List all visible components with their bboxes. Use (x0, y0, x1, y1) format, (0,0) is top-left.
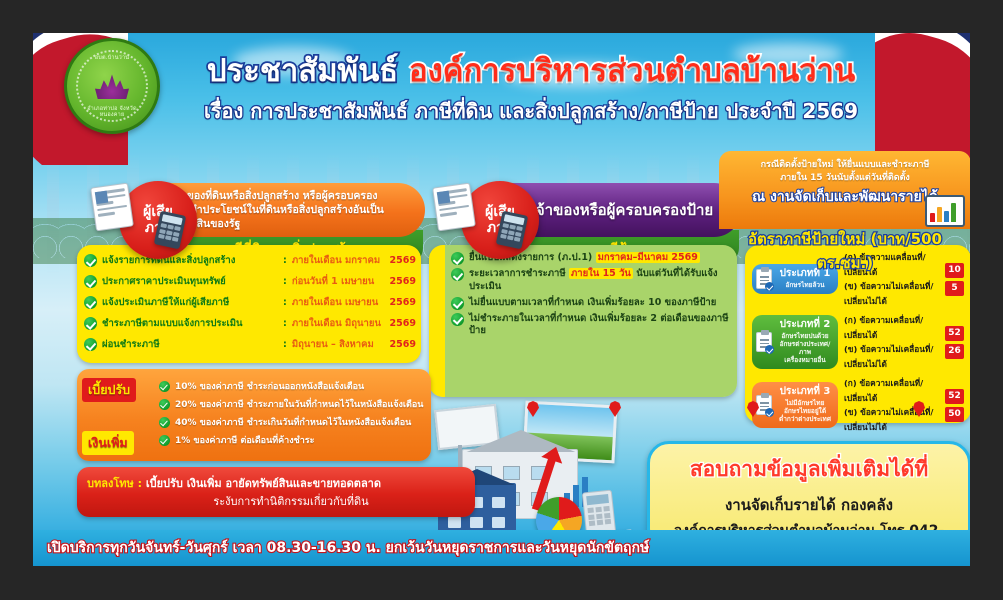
rate-line-text: (ก) ข้อความเคลื่อนที่/เปลี่ยนได้ (844, 313, 939, 342)
table-row: ประกาศราคาประเมินทุนทรัพย์ : ก่อนวันที่ … (77, 271, 421, 292)
schedule-year: 2569 (387, 255, 421, 266)
check-icon (159, 417, 170, 428)
list-item: ระยะเวลาการชำระภาษี ภายใน 15 วัน นับแต่ว… (451, 268, 729, 294)
rate-line-text: (ข) ข้อความไม่เคลื่อนที่/เปลี่ยนไม่ได้ (844, 405, 939, 434)
fine-tag-label: เบี้ยปรับ (82, 378, 136, 402)
criminal-line1: เบี้ยปรับ เงินเพิ่ม อายัดทรัพย์สินและขาย… (146, 477, 381, 490)
new-sign-notice-box: กรณีติดตั้งป้ายใหม่ ให้ยื่นแบบและชำระภาษ… (719, 151, 970, 229)
sign-type-name: ประเภทที่ 2 (777, 319, 833, 332)
tax-document-icon (90, 183, 134, 232)
page-subtitle: เรื่อง การประชาสัมพันธ์ ภาษีที่ดิน และสิ… (151, 95, 911, 127)
tax-document-icon (432, 183, 476, 232)
contact-line-1: งานจัดเก็บรายได้ กองคลัง (650, 493, 968, 517)
emblem-bottom-text: อำเภอท่าบ่อ จังหวัดหนองคาย (78, 106, 146, 118)
page-title: ประชาสัมพันธ์ องค์การบริหารส่วนตำบลบ้านว… (151, 55, 911, 88)
table-row: แจ้งประเมินภาษีให้แก่ผู้เสียภาษี : ภายใน… (77, 292, 421, 313)
office-hours-text: เปิดบริการทุกวันจันทร์-วันศุกร์ เวลา 08.… (47, 537, 649, 559)
land-tax-schedule-panel: แจ้งรายการที่ดินและสิ่งปลูกสร้าง : ภายใน… (77, 245, 421, 363)
list-item: ไม่ยื่นแบบตามเวลาที่กำหนด เงินเพิ่มร้อยล… (451, 297, 729, 310)
bar-chart-monitor-icon (925, 195, 965, 227)
schedule-colon: : (283, 318, 287, 329)
penalty-box: เบี้ยปรับ เงินเพิ่ม 10% ของค่าภาษี ชำระก… (77, 369, 431, 461)
sign-type-3-chip: ประเภทที่ 3 ไม่มีอักษรไทย อักษรไทยอยู่ใต… (752, 382, 838, 428)
fine-text: 20% ของค่าภาษี ชำระภายในวันที่กำหนดไว้ใน… (175, 397, 423, 411)
table-row: แจ้งรายการที่ดินและสิ่งปลูกสร้าง : ภายใน… (77, 250, 421, 271)
sign-rule-highlight: มกราคม–มีนาคม 2569 (596, 252, 700, 263)
land-desc-line2: หรือทำประโยชน์ในที่ดินหรือสิ่งปลูกสร้างอ… (171, 203, 384, 217)
schedule-colon: : (283, 255, 287, 266)
schedule-year: 2569 (387, 318, 421, 329)
table-row: ประเภทที่ 3 ไม่มีอักษรไทย อักษรไทยอยู่ใต… (745, 371, 970, 434)
check-icon (84, 275, 97, 288)
check-icon (159, 381, 170, 392)
check-icon (451, 252, 464, 265)
surcharge-tag-label: เงินเพิ่ม (82, 431, 134, 455)
surcharge-text: 1% ของค่าภาษี ต่อเดือนที่ค้างชำระ (175, 433, 314, 447)
schedule-label: แจ้งรายการที่ดินและสิ่งปลูกสร้าง (102, 253, 278, 268)
title-part-1: ประชาสัมพันธ์ (207, 53, 398, 89)
sign-type-sub: ไม่มีอักษรไทย อักษรไทยอยู่ใต้ ต่ำกว่าต่า… (777, 399, 833, 423)
fine-text: 10% ของค่าภาษี ชำระก่อนออกหนังสือแจ้งเตื… (175, 379, 364, 393)
schedule-colon: : (283, 276, 287, 287)
rate-value: 26 (945, 344, 964, 359)
schedule-when: ภายในเดือน เมษายน (292, 295, 382, 310)
sign-pill-label: เจ้าของหรือผู้ครอบครองป้าย (531, 198, 713, 222)
rate-value: 5 (945, 281, 964, 296)
schedule-label: ชำระภาษีตามแบบแจ้งการประเมิน (102, 316, 278, 331)
sign-type-sub: อักษรไทยปนด้วย อักษรต่างประเทศ/ภาพ เครื่… (777, 332, 833, 365)
schedule-when: ก่อนวันที่ 1 เมษายน (292, 274, 382, 289)
sign-rule-pre: ไม่ชำระภายในเวลาที่กำหนด เงินเพิ่มร้อยละ… (469, 313, 729, 339)
schedule-year: 2569 (387, 339, 421, 350)
table-row: ประเภทที่ 2 อักษรไทยปนด้วย อักษรต่างประเ… (745, 308, 970, 371)
rate-table-title: อัตราภาษีป้ายใหม่ (บาท/500 ตร.ซม.) (719, 227, 970, 255)
schedule-when: ภายในเดือน มิถุนายน (292, 316, 382, 331)
check-icon (159, 399, 170, 410)
sign-type-2-chip: ประเภทที่ 2 อักษรไทยปนด้วย อักษรต่างประเ… (752, 315, 838, 369)
sign-type-sub: อักษรไทยล้วน (777, 281, 833, 289)
check-icon (84, 338, 97, 351)
table-row: ชำระภาษีตามแบบแจ้งการประเมิน : ภายในเดือ… (77, 313, 421, 334)
schedule-colon: : (283, 297, 287, 308)
criminal-line2: ระงับการทำนิติกรรมเกี่ยวกับที่ดิน (87, 492, 465, 510)
organization-emblem-logo: อบต.บ้านว่าน อำเภอท่าบ่อ จังหวัดหนองคาย (64, 38, 160, 134)
sign-tax-rules-panel: ยื่นแบบแสดงรายการ (ภ.ป.1) มกราคม–มีนาคม … (429, 245, 737, 397)
schedule-when: มิถุนายน – สิงหาคม (292, 337, 382, 352)
land-desc-line1: เจ้าของที่ดินหรือสิ่งปลูกสร้าง หรือผู้คร… (171, 189, 384, 203)
rate-value: 52 (945, 326, 964, 341)
schedule-year: 2569 (387, 297, 421, 308)
criminal-penalty-box: บทลงโทษ : เบี้ยปรับ เงินเพิ่ม อายัดทรัพย… (77, 467, 475, 517)
rate-value: 50 (945, 407, 964, 422)
fine-text: 40% ของค่าภาษี ชำระเกินวันที่กำหนดไว้ในห… (175, 415, 411, 429)
check-icon (84, 296, 97, 309)
schedule-year: 2569 (387, 276, 421, 287)
office-hours-banner: เปิดบริการทุกวันจันทร์-วันศุกร์ เวลา 08.… (33, 530, 970, 566)
clipboard-check-icon (756, 332, 772, 352)
schedule-label: แจ้งประเมินภาษีให้แก่ผู้เสียภาษี (102, 295, 278, 310)
schedule-colon: : (283, 339, 287, 350)
title-part-2: องค์การบริหารส่วนตำบลบ้านว่าน (409, 53, 855, 89)
check-icon (159, 435, 170, 446)
emblem-top-text: อบต.บ้านว่าน (78, 55, 146, 61)
sign-rule-pre: ไม่ยื่นแบบตามเวลาที่กำหนด เงินเพิ่มร้อยล… (469, 297, 716, 310)
list-item: 40% ของค่าภาษี ชำระเกินวันที่กำหนดไว้ในห… (77, 413, 431, 431)
check-icon (451, 297, 464, 310)
list-item: ไม่ชำระภายในเวลาที่กำหนด เงินเพิ่มร้อยละ… (451, 313, 729, 339)
schedule-when: ภายในเดือน มกราคม (292, 253, 382, 268)
emblem-glyph-icon (95, 73, 129, 99)
table-row: ผ่อนชำระภาษี : มิถุนายน – สิงหาคม 2569 (77, 334, 421, 355)
notice-line-1: กรณีติดตั้งป้ายใหม่ ให้ยื่นแบบและชำระภาษ… (727, 159, 963, 172)
clipboard-check-icon (756, 269, 772, 289)
rate-line-text: (ก) ข้อความเคลื่อนที่/เปลี่ยนได้ (844, 376, 939, 405)
poster-canvas: อบต.บ้านว่าน อำเภอท่าบ่อ จังหวัดหนองคาย … (33, 33, 970, 566)
check-icon (451, 268, 464, 281)
sign-rule-highlight: ภายใน 15 วัน (569, 268, 633, 279)
schedule-label: ผ่อนชำระภาษี (102, 337, 278, 352)
contact-heading: สอบถามข้อมูลเพิ่มเติมได้ที่ (650, 453, 968, 486)
sign-type-name: ประเภทที่ 3 (777, 386, 833, 399)
criminal-tag: บทลงโทษ : (87, 477, 142, 490)
clipboard-check-icon (756, 395, 772, 415)
sign-rule-pre: ระยะเวลาการชำระภาษี (469, 268, 566, 279)
check-icon (84, 254, 97, 267)
check-icon (451, 313, 464, 326)
check-icon (84, 317, 97, 330)
rate-line-text: (ข) ข้อความไม่เคลื่อนที่/เปลี่ยนไม่ได้ (844, 279, 939, 308)
rate-value: 10 (945, 263, 964, 278)
notice-line-2: ภายใน 15 วันนับตั้งแต่วันที่ติดตั้ง (727, 172, 963, 185)
rate-line-text: (ข) ข้อความไม่เคลื่อนที่/เปลี่ยนไม่ได้ (844, 342, 939, 371)
land-desc-line3: ทรัพย์สินของรัฐ (171, 217, 384, 231)
schedule-label: ประกาศราคาประเมินทุนทรัพย์ (102, 274, 278, 289)
rate-value: 52 (945, 389, 964, 404)
